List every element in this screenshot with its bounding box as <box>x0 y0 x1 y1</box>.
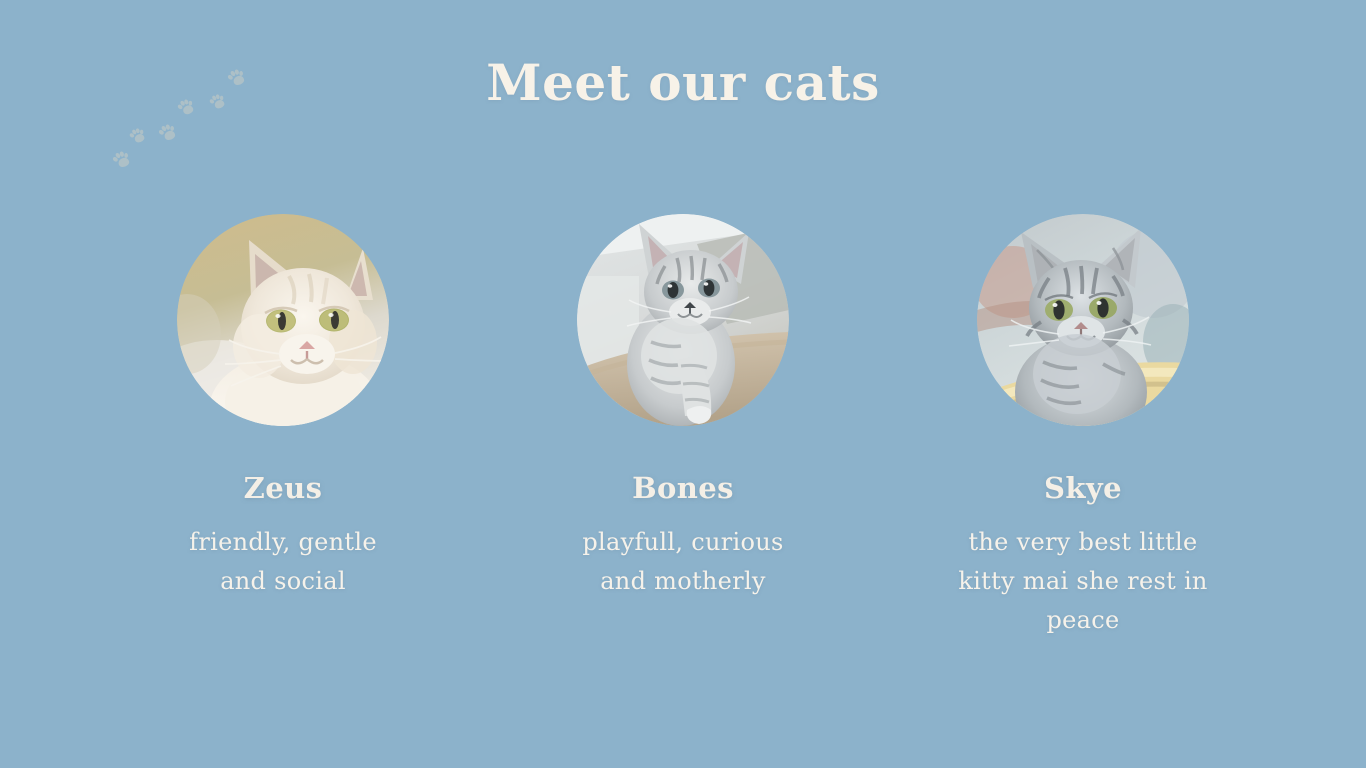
page-title: Meet our cats <box>0 55 1366 110</box>
cat-name-bones: Bones <box>632 474 734 503</box>
paw-print-trail <box>0 0 360 230</box>
cat-description-skye: the very best little kitty mai she rest … <box>951 523 1216 640</box>
cat-card-list: Zeus friendly, gentle and social <box>0 214 1366 640</box>
cat-card-zeus[interactable]: Zeus friendly, gentle and social <box>83 214 483 601</box>
cat-name-zeus: Zeus <box>244 474 323 503</box>
paw-print-icon <box>153 119 180 146</box>
slide-meet-our-cats: Meet our cats <box>0 0 1366 768</box>
cat-name-skye: Skye <box>1044 474 1122 503</box>
cat-card-bones[interactable]: Bones playfull, curious and motherly <box>483 214 883 601</box>
paw-print-icon <box>125 124 149 148</box>
cat-photo-skye <box>977 214 1189 426</box>
cat-photo-bones <box>577 214 789 426</box>
cat-description-zeus: friendly, gentle and social <box>168 523 398 601</box>
cat-description-bones: playfull, curious and motherly <box>558 523 808 601</box>
cat-photo-zeus <box>177 214 389 426</box>
cat-card-skye[interactable]: Skye the very best little kitty mai she … <box>883 214 1283 640</box>
paw-print-icon <box>107 146 134 173</box>
